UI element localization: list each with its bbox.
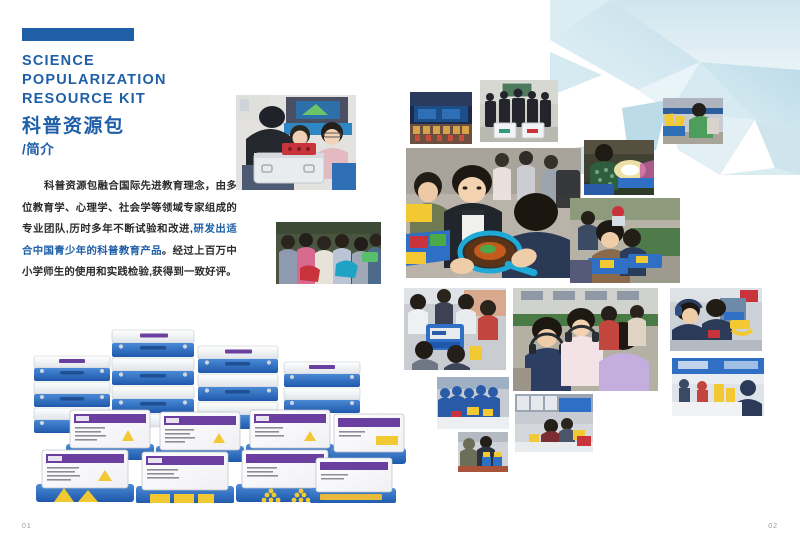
photo-blue-uniform-row	[437, 377, 509, 429]
intro-text-column: SCIENCE POPULARIZATION RESOURCE KIT 科普资源…	[22, 28, 237, 294]
accent-bar	[22, 28, 134, 41]
photo-workshop-men	[458, 432, 508, 472]
brochure-page: SCIENCE POPULARIZATION RESOURCE KIT 科普资源…	[0, 0, 800, 546]
photo-classroom-overview	[410, 92, 472, 144]
photo-magnifier-main	[406, 148, 581, 278]
photo-light-experiment	[584, 140, 654, 195]
page-number-right: 02	[768, 523, 778, 530]
page-subtitle-cn: /简介	[22, 141, 237, 159]
kit-boxes-illustration	[16, 318, 406, 503]
photo-headphones-indoor	[670, 288, 762, 351]
photo-teachers-group	[480, 80, 558, 142]
photo-desk-cluster	[404, 288, 506, 370]
photo-expo-booth	[672, 358, 764, 416]
page-title-en: SCIENCE POPULARIZATION RESOURCE KIT	[22, 52, 237, 109]
photo-teacher-demo	[236, 95, 356, 190]
photo-expo-hall	[515, 394, 593, 452]
intro-paragraph: 科普资源包融合国际先进教育理念，由多位教育学、心理学、社会学等领域专家组成的专业…	[22, 176, 237, 284]
photo-student-green	[663, 98, 723, 144]
page-title-cn: 科普资源包	[22, 116, 237, 138]
photo-outdoor-row	[570, 198, 680, 283]
photo-headphones-yard	[513, 288, 658, 391]
product-kit-cluster	[16, 318, 406, 503]
photo-children-seated	[276, 222, 381, 284]
page-number-left: 01	[22, 523, 32, 530]
